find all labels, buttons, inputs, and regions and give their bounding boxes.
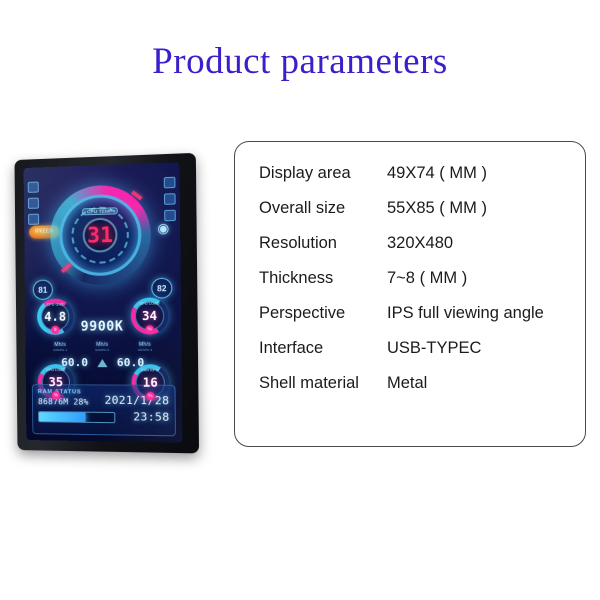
spec-key: Shell material <box>235 374 387 393</box>
badge-left: 81 <box>33 280 53 300</box>
spec-table: Display area 49X74 ( MM ) Overall size 5… <box>234 141 586 447</box>
hashrate-row: Mh/s GRAPH 1 Mh/s GRAPH 2 Mh/s GRAPH 3 <box>39 342 166 352</box>
status-chip-icon <box>164 193 176 205</box>
page-title: Product parameters <box>0 40 600 83</box>
main-gauge-caption: CPU TEMP <box>82 207 118 215</box>
temperature-icon <box>97 359 107 367</box>
temp-right-value: 60.0 <box>117 356 145 369</box>
spec-key: Perspective <box>235 304 387 323</box>
spec-value: Metal <box>387 374 585 393</box>
hashrate-sub: GRAPH 2 <box>95 348 109 352</box>
spec-key: Thickness <box>235 269 387 288</box>
badge-right: 82 <box>151 278 172 299</box>
hashrate-sub: GRAPH 1 <box>53 348 67 352</box>
ram-status-value: 86876M 28% <box>38 397 89 407</box>
spec-value: 320X480 <box>387 234 585 253</box>
table-row: Resolution 320X480 <box>235 234 585 269</box>
hashrate-item: Mh/s GRAPH 2 <box>95 342 109 352</box>
main-cpu-gauge: 31 CPU TEMP ▮▮▮▮▮ ▮▮▮▮▮ <box>50 184 151 286</box>
gauge-value: 4.8 <box>44 310 66 324</box>
gauge-bar-decor-icon: ▮▮▮▮▮ <box>130 190 143 202</box>
gauge-caption: GPU LOAD <box>139 302 159 306</box>
spec-value: 7~8 ( MM ) <box>387 269 585 288</box>
hashrate-item: Mh/s GRAPH 1 <box>53 342 67 352</box>
spec-key: Interface <box>235 339 387 358</box>
gauge-ring-inner: 31 <box>82 217 117 252</box>
gauge-unit-dot: % <box>145 325 153 333</box>
ram-progress-bar <box>38 411 115 423</box>
gauge-value: 34 <box>142 309 157 323</box>
spec-value: USB-TYPEC <box>387 339 585 358</box>
table-row: Overall size 55X85 ( MM ) <box>235 199 585 234</box>
table-row: Perspective IPS full viewing angle <box>235 304 585 339</box>
gauge-caption: CPU LOAD <box>46 368 65 372</box>
gauge-caption: FAN RPM <box>141 368 158 372</box>
table-row: Display area 49X74 ( MM ) <box>235 164 585 199</box>
status-chip-icon <box>28 214 39 225</box>
device-mockup: RYZEN ◉ 31 CPU TEMP ▮▮▮▮▮ ▮▮▮▮▮ 81 82 <box>16 156 194 452</box>
spec-value: IPS full viewing angle <box>387 304 585 323</box>
spec-key: Display area <box>235 164 387 183</box>
gauge-value: 35 <box>48 375 63 389</box>
gauge-bar-decor-icon: ▮▮▮▮▮ <box>60 262 72 274</box>
product-parameters-page: Product parameters RYZEN ◉ 31 <box>0 0 600 600</box>
rog-logo: ◉ <box>151 220 176 237</box>
table-row: Thickness 7~8 ( MM ) <box>235 269 585 304</box>
gauge-unit-dot: % <box>146 392 154 400</box>
spec-key: Overall size <box>235 199 387 218</box>
hashrate-sub: GRAPH 3 <box>138 348 153 352</box>
gauge-value: 16 <box>143 375 158 389</box>
spec-value: 55X85 ( MM ) <box>387 199 585 218</box>
device-screen: RYZEN ◉ 31 CPU TEMP ▮▮▮▮▮ ▮▮▮▮▮ 81 82 <box>24 162 183 443</box>
gauge-caption: CPU GHZ <box>47 303 64 307</box>
status-chip-icon <box>28 198 39 209</box>
main-gauge-value: 31 <box>85 220 116 251</box>
table-row: Shell material Metal <box>235 374 585 409</box>
table-row: Interface USB-TYPEC <box>235 339 585 374</box>
spec-key: Resolution <box>235 234 387 253</box>
status-chip-icon <box>28 182 39 193</box>
hashrate-item: Mh/s GRAPH 3 <box>138 342 153 352</box>
spec-value: 49X74 ( MM ) <box>387 164 585 183</box>
gauge-ring-outer: 31 <box>59 193 142 276</box>
gauge-unit-dot: % <box>52 391 60 399</box>
date-display: 2021/1/28 <box>104 394 169 408</box>
status-chip-icon <box>164 177 176 189</box>
time-display: 23:58 <box>133 410 169 424</box>
ram-progress-fill <box>39 412 85 422</box>
gauge-unit-dot: 8 <box>51 326 59 334</box>
